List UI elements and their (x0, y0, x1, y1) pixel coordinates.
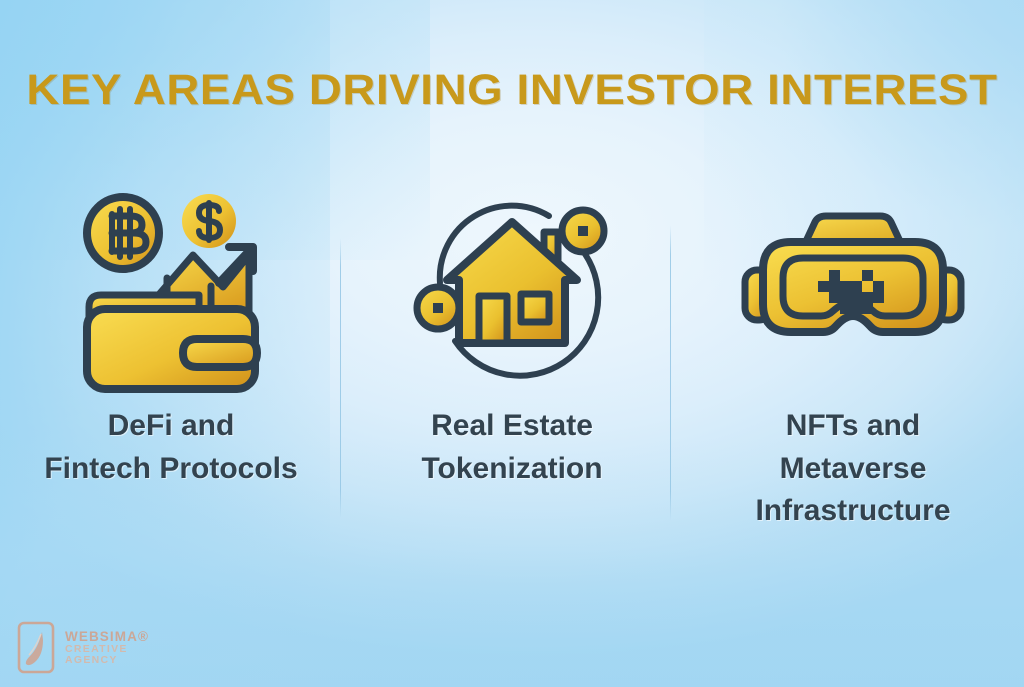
crypto-wallet-icon-wrap (71, 180, 271, 395)
token-circle-bottom-left (417, 287, 459, 329)
columns-container: DeFi and Fintech Protocols (0, 180, 1024, 580)
vr-headset-icon-wrap (733, 180, 973, 395)
column-defi: DeFi and Fintech Protocols (1, 180, 342, 490)
column-nft-metaverse: NFTs and Metaverse Infrastructure (683, 180, 1024, 533)
crypto-wallet-icon (71, 183, 271, 393)
websima-leaf-mark (16, 620, 56, 675)
websima-logo[interactable]: WEBSIMA® CREATIVE AGENCY (16, 620, 149, 675)
vr-headset-icon (733, 208, 973, 368)
bitcoin-coin-icon (87, 197, 159, 269)
page-title: KEY AREAS DRIVING INVESTOR INTEREST (0, 66, 1024, 115)
column-label-nft-metaverse: NFTs and Metaverse Infrastructure (755, 405, 950, 533)
column-real-estate: Real Estate Tokenization (342, 180, 683, 490)
column-label-defi: DeFi and Fintech Protocols (44, 405, 297, 490)
wallet-clasp (183, 339, 257, 367)
house-tokenization-icon (407, 188, 617, 388)
slide-canvas: KEY AREAS DRIVING INVESTOR INTEREST (0, 0, 1024, 687)
token-circle-top-right (562, 210, 604, 252)
house-shape (447, 222, 577, 343)
dollar-coin-icon (182, 194, 236, 248)
websima-logo-text: WEBSIMA® CREATIVE AGENCY (65, 630, 149, 666)
logo-brand-name: WEBSIMA® (65, 630, 149, 644)
logo-tagline: CREATIVE AGENCY (65, 644, 149, 666)
house-tokenization-icon-wrap (407, 180, 617, 395)
column-label-real-estate: Real Estate Tokenization (421, 405, 602, 490)
